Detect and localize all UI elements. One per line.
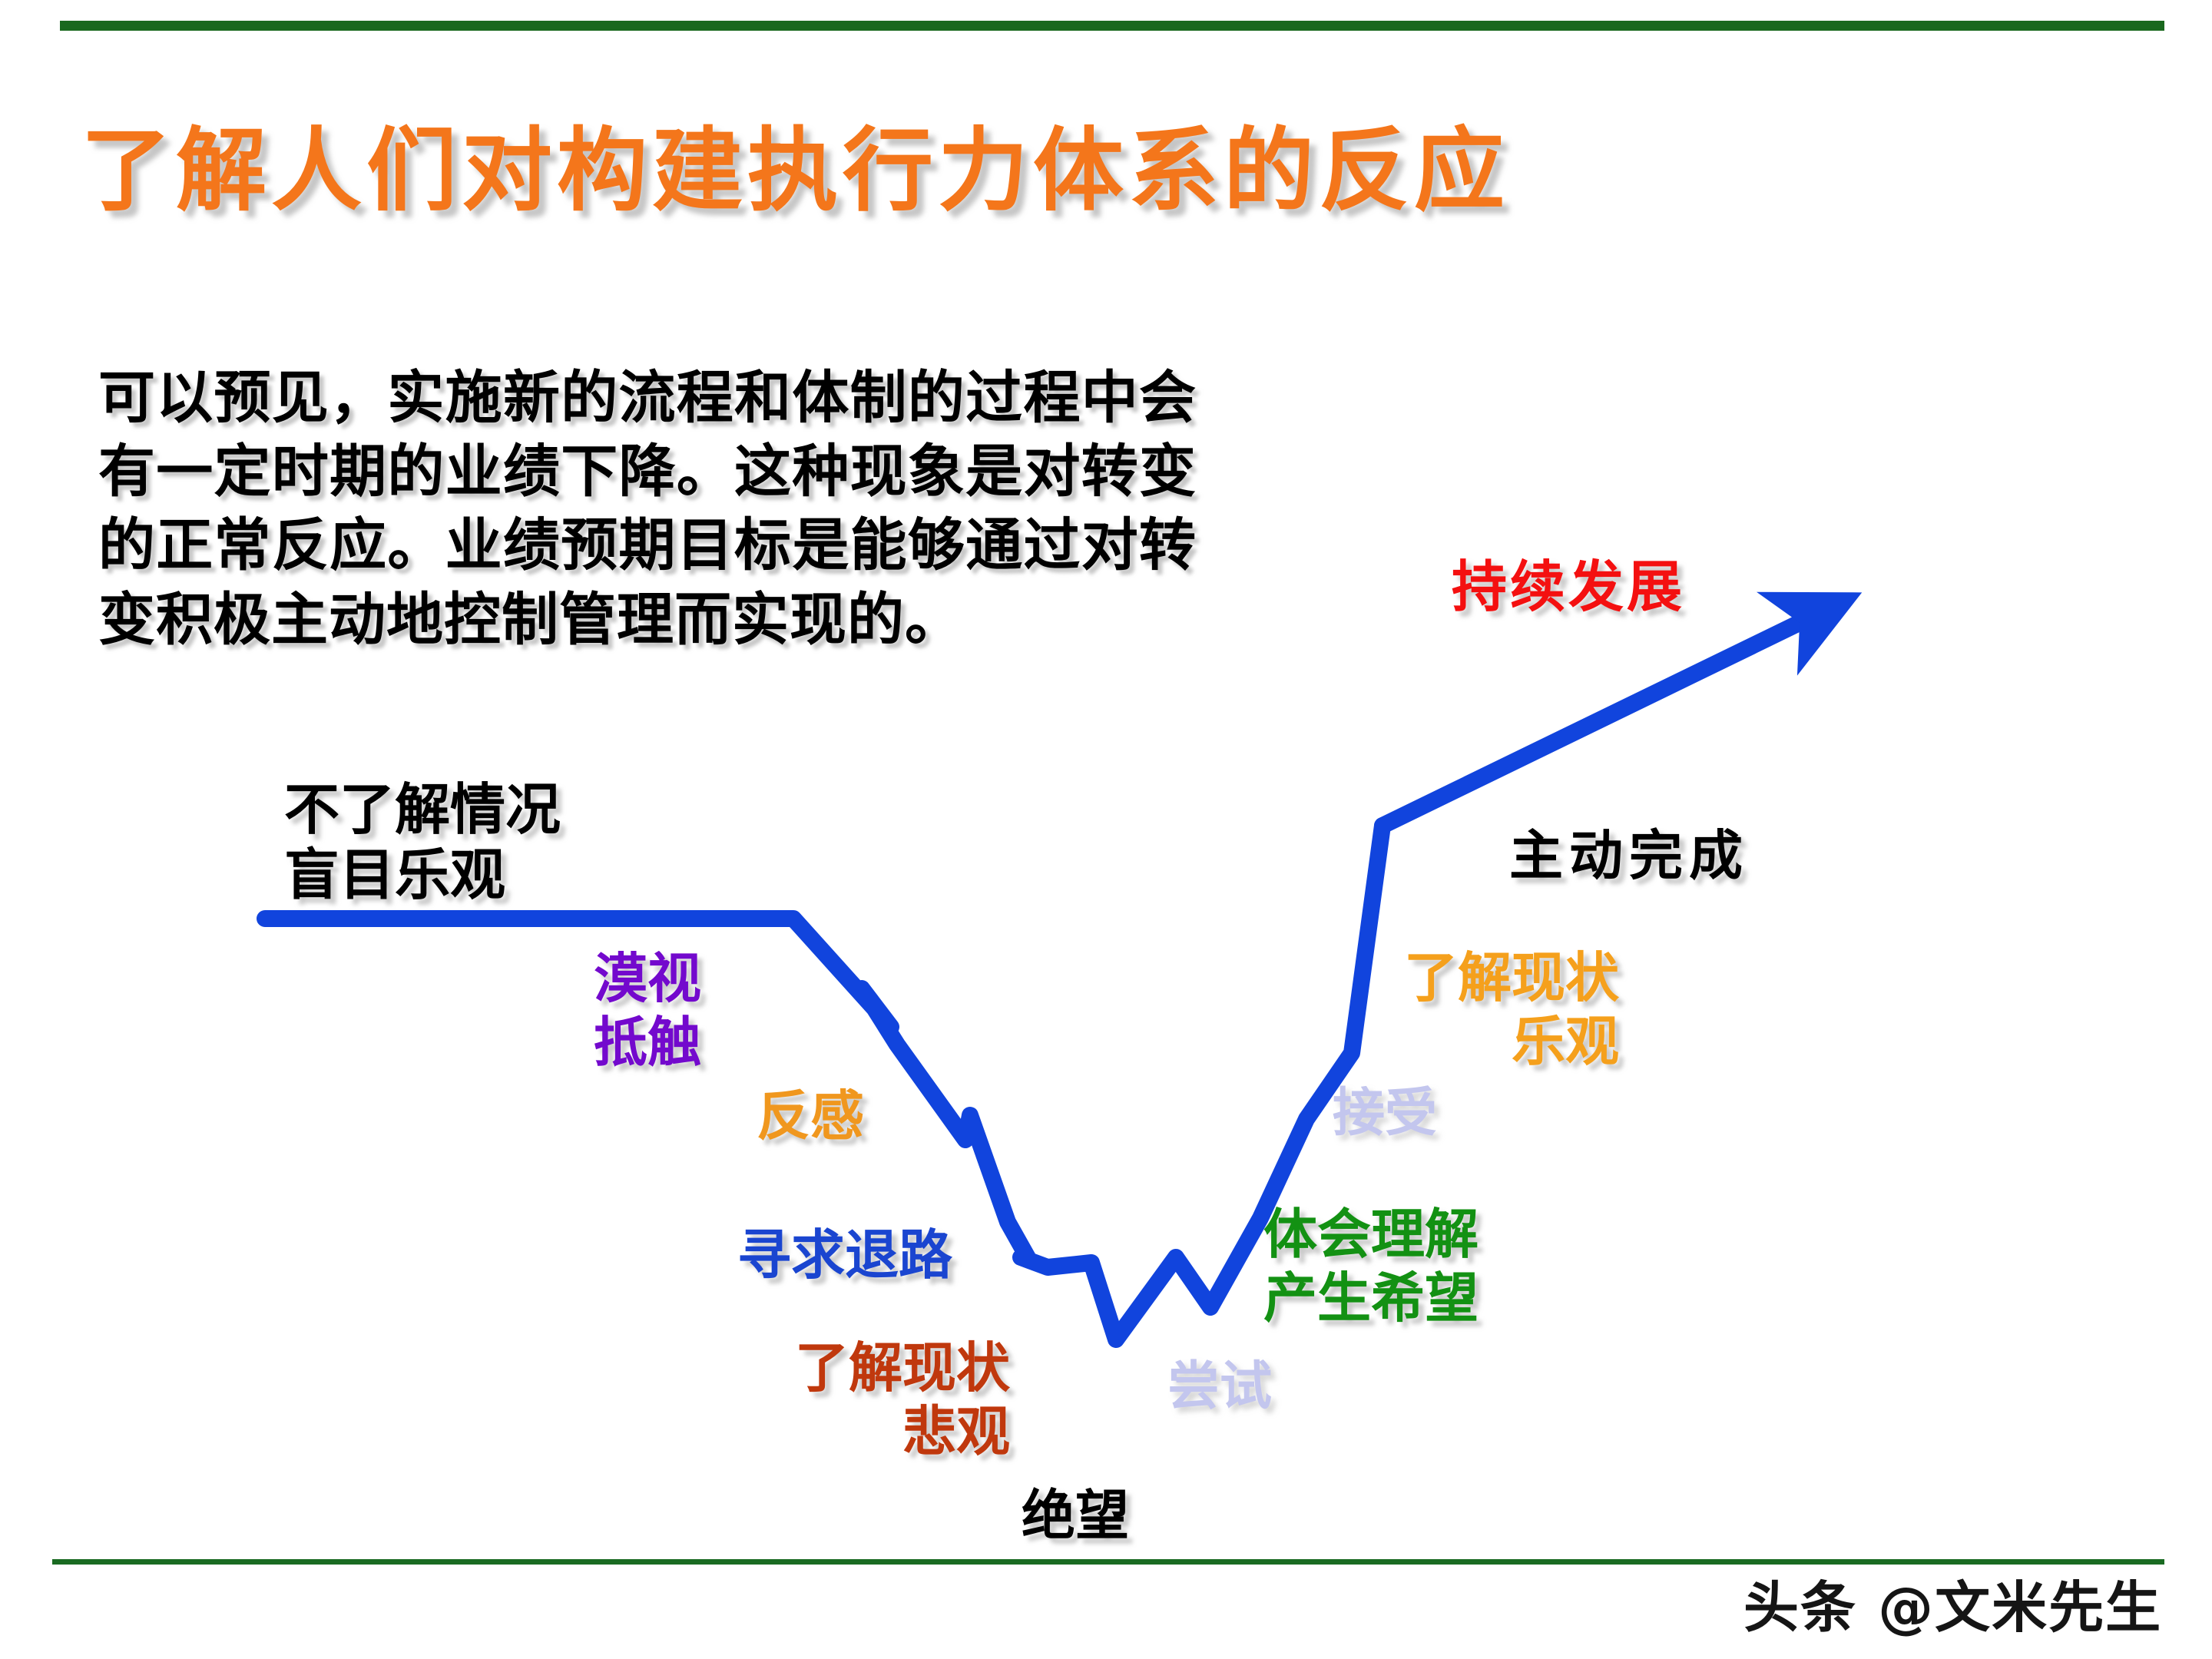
growth-arrow: [1382, 618, 1809, 826]
label-unaware-line1: 不了解情况: [284, 777, 561, 843]
label-pessimism: 了解现状 悲观: [795, 1336, 1010, 1463]
label-sustained-growth: 持续发展: [1452, 555, 1685, 620]
label-ignore-line1: 漠视: [594, 947, 701, 1011]
label-optimism-line1: 了解现状: [1404, 946, 1619, 1010]
label-pessimism-line2: 悲观: [795, 1400, 1010, 1464]
label-ignore: 漠视 抵触: [594, 947, 701, 1074]
label-unaware-line2: 盲目乐观: [284, 843, 561, 908]
watermark-credit: 头条 @文米先生: [1743, 1562, 2162, 1643]
label-try: 尝试: [1167, 1356, 1272, 1418]
label-hope-line1: 体会理解: [1263, 1203, 1479, 1267]
label-unaware: 不了解情况 盲目乐观: [284, 777, 561, 908]
label-optimism: 了解现状 乐观: [1404, 946, 1619, 1073]
label-hope: 体会理解 产生希望: [1263, 1203, 1479, 1330]
label-ignore-line2: 抵触: [594, 1011, 701, 1075]
label-dislike: 反感: [757, 1084, 864, 1148]
label-accept: 接受: [1333, 1083, 1437, 1144]
label-despair: 绝望: [1022, 1484, 1129, 1548]
label-hope-line2: 产生希望: [1263, 1267, 1479, 1330]
label-proactive: 主动完成: [1509, 824, 1749, 888]
label-retreat: 寻求退路: [737, 1224, 952, 1287]
label-pessimism-line1: 了解现状: [795, 1336, 1010, 1400]
label-optimism-line2: 乐观: [1404, 1010, 1619, 1074]
slide-canvas: 了解人们对构建执行力体系的反应 可以预见，实施新的流程和体制的过程中会有一定时期…: [0, 0, 2212, 1659]
